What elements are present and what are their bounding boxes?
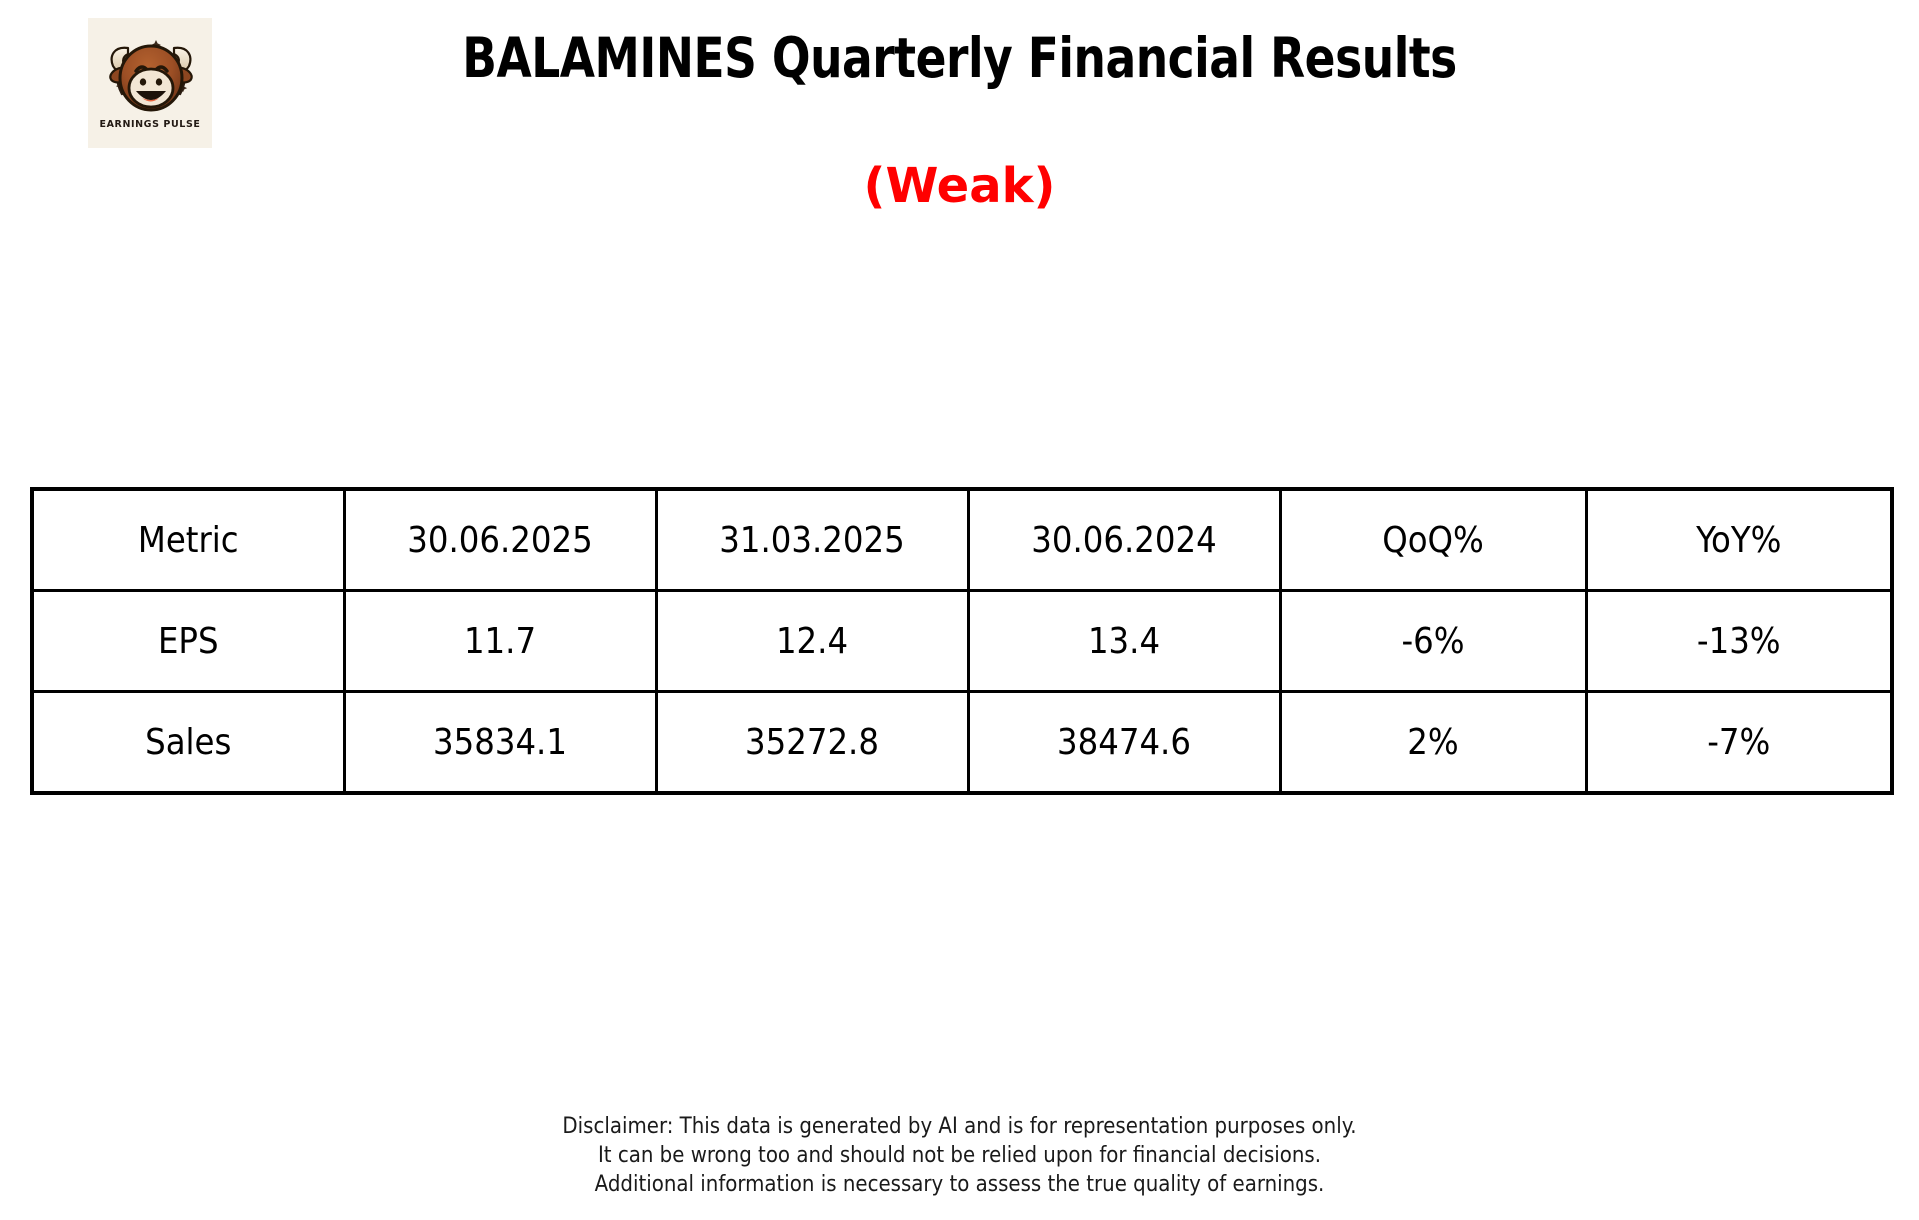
cell-value-prev-quarter: 12.4 [656, 591, 968, 692]
cell-metric-name: Sales [32, 692, 344, 794]
table-row: EPS 11.7 12.4 13.4 -6% -13% [32, 591, 1892, 692]
column-header-qoq: QoQ% [1280, 489, 1586, 591]
financial-table-container: Metric 30.06.2025 31.03.2025 30.06.2024 … [30, 487, 1890, 795]
financial-results-table: Metric 30.06.2025 31.03.2025 30.06.2024 … [30, 487, 1894, 795]
cell-value-prev-year: 13.4 [968, 591, 1280, 692]
cell-qoq-change: -6% [1280, 591, 1586, 692]
cell-value-prev-year: 38474.6 [968, 692, 1280, 794]
table-header-row: Metric 30.06.2025 31.03.2025 30.06.2024 … [32, 489, 1892, 591]
column-header-metric: Metric [32, 489, 344, 591]
column-header-period-current: 30.06.2025 [344, 489, 656, 591]
table-row: Sales 35834.1 35272.8 38474.6 2% -7% [32, 692, 1892, 794]
column-header-yoy: YoY% [1586, 489, 1892, 591]
page-title: BALAMINES Quarterly Financial Results [77, 30, 1842, 88]
cell-yoy-change: -7% [1586, 692, 1892, 794]
column-header-period-prev-year: 30.06.2024 [968, 489, 1280, 591]
cell-qoq-change: 2% [1280, 692, 1586, 794]
result-verdict-label: (Weak) [0, 160, 1919, 213]
cell-value-current: 35834.1 [344, 692, 656, 794]
cell-yoy-change: -13% [1586, 591, 1892, 692]
cell-value-prev-quarter: 35272.8 [656, 692, 968, 794]
cell-value-current: 11.7 [344, 591, 656, 692]
disclaimer-line-3: Additional information is necessary to a… [0, 1170, 1919, 1199]
brand-wordmark: EARNINGS PULSE [99, 119, 200, 130]
disclaimer-line-2: It can be wrong too and should not be re… [0, 1141, 1919, 1170]
cell-metric-name: EPS [32, 591, 344, 692]
disclaimer-line-1: Disclaimer: This data is generated by AI… [0, 1112, 1919, 1141]
column-header-period-prev-quarter: 31.03.2025 [656, 489, 968, 591]
disclaimer: Disclaimer: This data is generated by AI… [0, 1112, 1919, 1199]
